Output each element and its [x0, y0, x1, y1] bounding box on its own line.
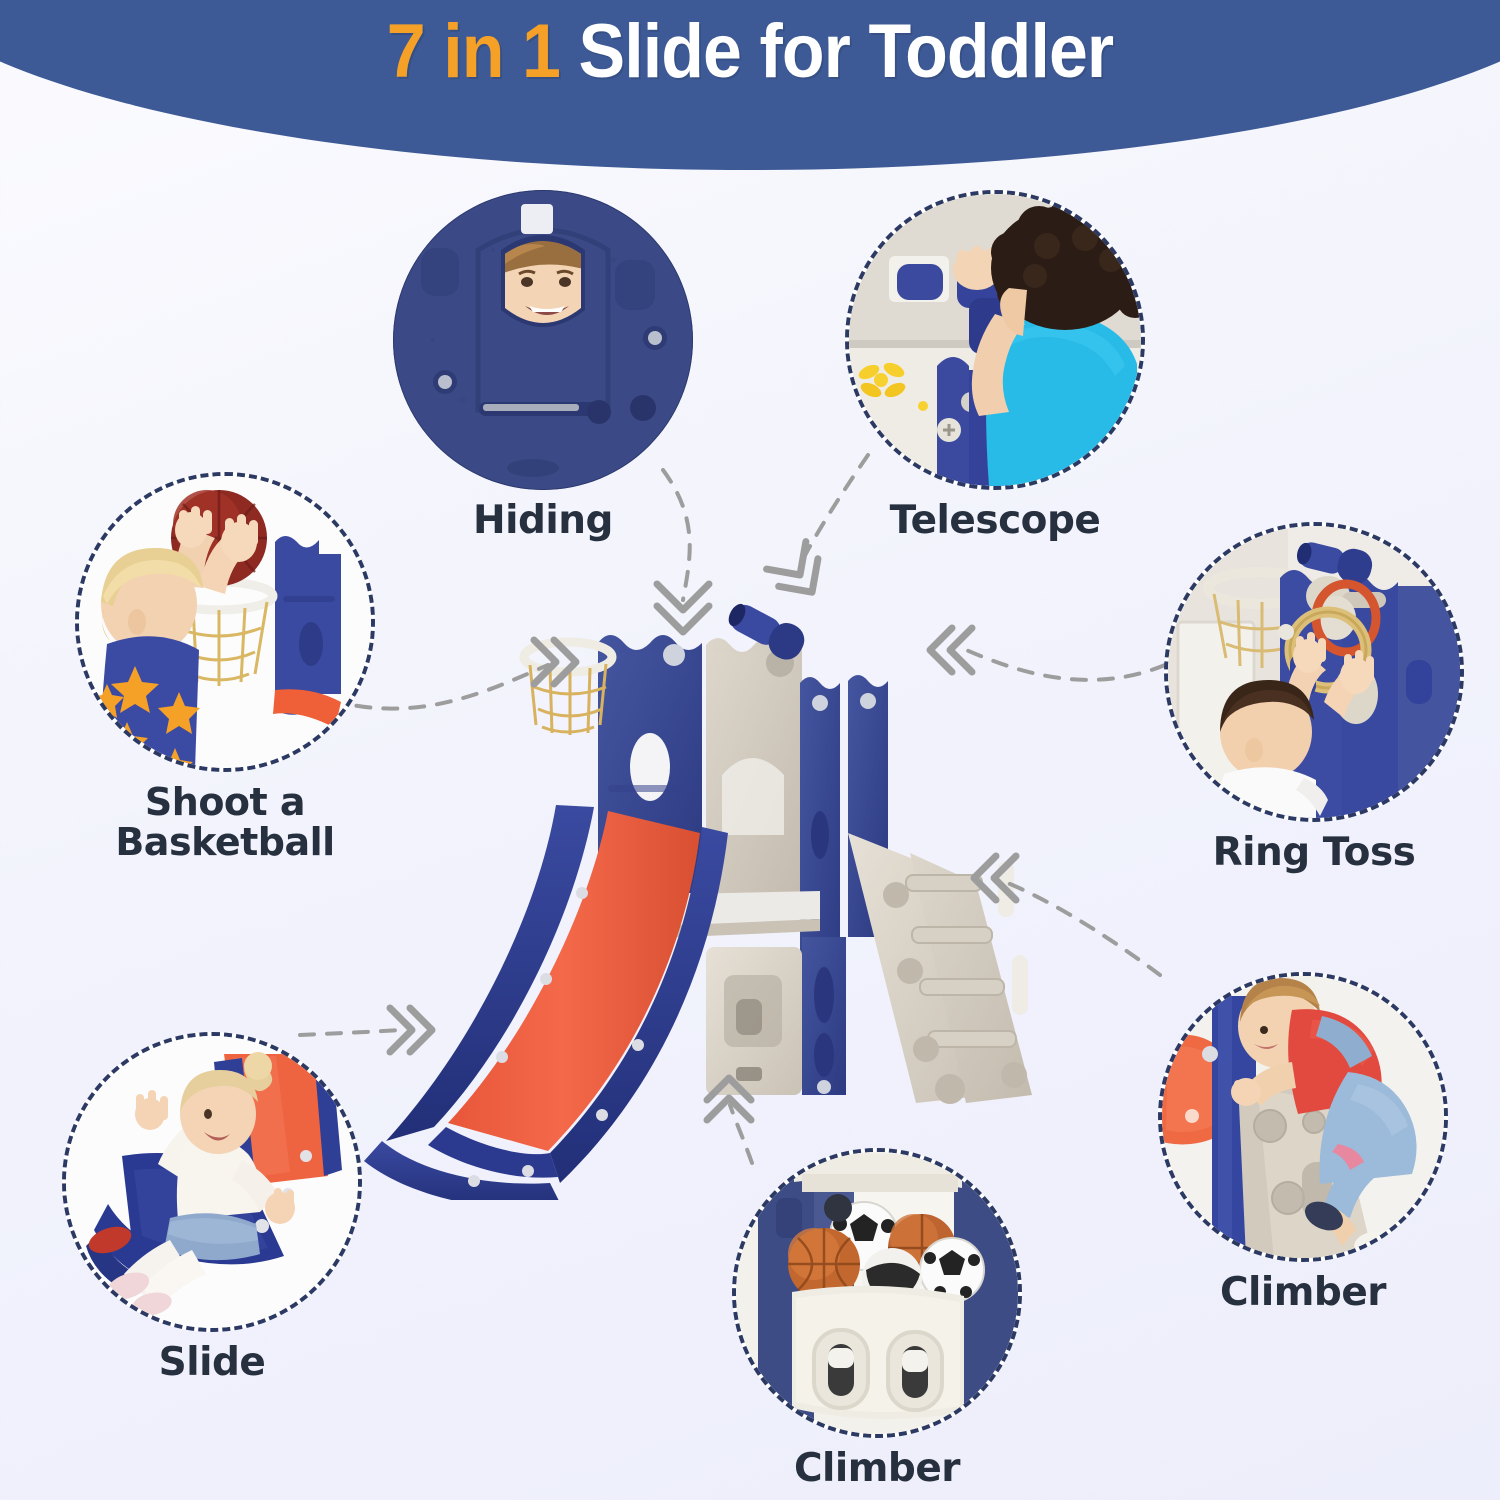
- connector-climber-steps: [1000, 880, 1160, 975]
- callout-basketball[interactable]: Shoot a Basketball: [75, 472, 375, 863]
- callout-slide-image: [62, 1032, 362, 1332]
- callout-climber-balls-image: [732, 1148, 1022, 1438]
- arrow-climber-balls: [707, 1078, 751, 1120]
- arrow-basketball: [534, 640, 576, 684]
- arrow-ringtoss: [930, 628, 972, 672]
- callout-climber-steps-image: [1158, 972, 1448, 1262]
- callout-ringtoss-label: Ring Toss: [1164, 832, 1464, 873]
- callout-telescope-label: Telescope: [845, 500, 1145, 541]
- callout-basketball-label-line1: Shoot a: [75, 782, 375, 822]
- arrow-climber-steps: [974, 856, 1016, 900]
- callout-ringtoss[interactable]: Ring Toss: [1164, 522, 1464, 873]
- callout-telescope[interactable]: Telescope: [845, 190, 1145, 541]
- callout-telescope-image: [845, 190, 1145, 490]
- callout-basketball-image: [75, 472, 375, 772]
- connector-ringtoss: [955, 645, 1165, 680]
- climber-steps-scene: [1162, 976, 1444, 1258]
- callout-ringtoss-image: [1164, 522, 1464, 822]
- arrow-telescope: [767, 542, 832, 606]
- slide-scene: [66, 1036, 358, 1328]
- telescope-scene: [849, 194, 1141, 486]
- ringtoss-scene: [1168, 526, 1460, 818]
- basketball-scene: [79, 476, 371, 768]
- callout-slide-label: Slide: [62, 1342, 362, 1383]
- callout-basketball-label: Shoot a Basketball: [75, 782, 375, 863]
- callout-slide[interactable]: Slide: [62, 1032, 362, 1383]
- callout-climber-steps[interactable]: Climber: [1158, 972, 1448, 1313]
- callout-climber-balls[interactable]: Climber: [732, 1148, 1022, 1489]
- callout-climber-steps-label: Climber: [1158, 1272, 1448, 1313]
- callout-basketball-label-line2: Basketball: [75, 822, 375, 862]
- callout-climber-balls-label: Climber: [732, 1448, 1022, 1489]
- hiding-scene: [393, 190, 693, 490]
- climber-balls-scene: [736, 1152, 1018, 1434]
- callout-hiding-label: Hiding: [393, 500, 693, 541]
- callout-hiding[interactable]: Hiding: [393, 190, 693, 541]
- storage-bin-front: [792, 1286, 964, 1419]
- arrow-down-hiding: [657, 584, 709, 632]
- callout-hiding-image: [393, 190, 693, 490]
